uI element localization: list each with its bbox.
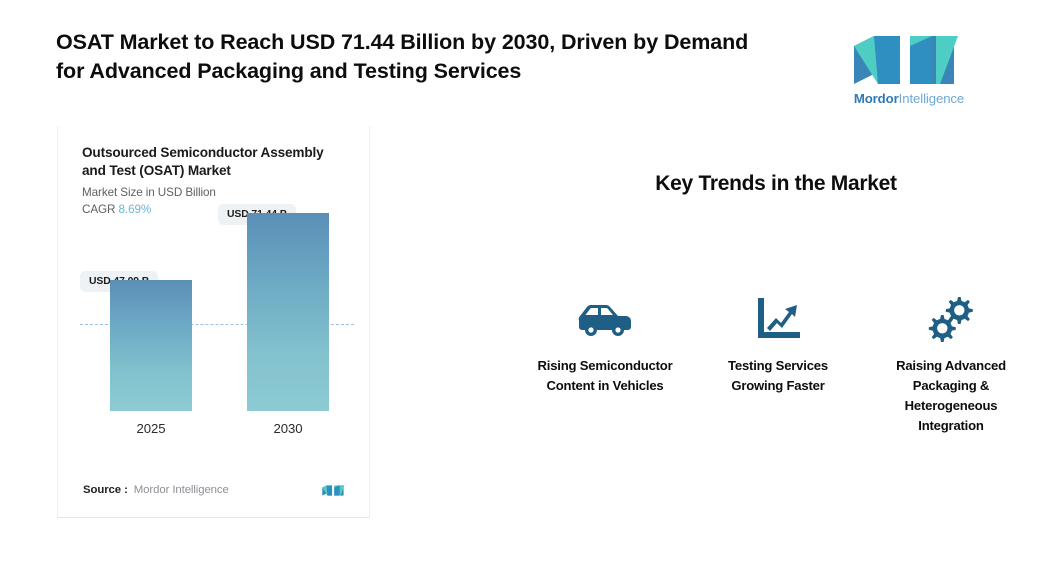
chart-plot-area: USD 47.09 B USD 71.44 B 2025 2030 xyxy=(58,224,369,474)
trend-label-packaging: Raising Advanced Packaging & Heterogeneo… xyxy=(876,356,1026,436)
car-icon-glyph xyxy=(574,299,636,339)
page-title: OSAT Market to Reach USD 71.44 Billion b… xyxy=(56,28,776,87)
source-value: Mordor Intelligence xyxy=(134,484,229,496)
cagr-label: CAGR xyxy=(82,203,115,216)
gears-icon-glyph xyxy=(925,295,977,343)
source-logo-mark-icon xyxy=(321,482,347,499)
trend-label-testing: Testing Services Growing Faster xyxy=(703,356,853,396)
infographic-page: OSAT Market to Reach USD 71.44 Billion b… xyxy=(0,0,1052,567)
gears-icon xyxy=(925,292,977,346)
car-icon xyxy=(574,292,636,346)
bar-2030 xyxy=(247,213,329,411)
bar-column-2030: 2030 xyxy=(247,213,329,436)
chart-card: Outsourced Semiconductor Assembly and Te… xyxy=(57,126,370,518)
growth-chart-icon-glyph xyxy=(754,296,802,342)
logo-mark-icon xyxy=(848,32,970,88)
mordor-intelligence-logo: MordorIntelligence xyxy=(848,32,970,110)
trend-label-vehicles: Rising Semiconductor Content in Vehicles xyxy=(530,356,680,396)
source-label: Source : xyxy=(83,484,128,496)
chart-subtitle: Market Size in USD Billion xyxy=(82,186,349,199)
growth-chart-icon xyxy=(754,292,802,346)
chart-header: Outsourced Semiconductor Assembly and Te… xyxy=(58,126,369,216)
trend-item-packaging: Raising Advanced Packaging & Heterogeneo… xyxy=(876,292,1026,436)
trends-title: Key Trends in the Market xyxy=(546,172,1006,196)
bar-label-2025: 2025 xyxy=(137,421,166,436)
chart-source-row: Source : Mordor Intelligence xyxy=(58,479,369,501)
trend-item-testing: Testing Services Growing Faster xyxy=(703,292,853,396)
logo-word-intelligence: Intelligence xyxy=(899,91,965,106)
chart-title: Outsourced Semiconductor Assembly and Te… xyxy=(82,144,349,180)
bar-label-2030: 2030 xyxy=(274,421,303,436)
trend-item-vehicles: Rising Semiconductor Content in Vehicles xyxy=(530,292,680,396)
bar-column-2025: 2025 xyxy=(110,280,192,436)
trends-row: Rising Semiconductor Content in Vehicles… xyxy=(530,292,1026,436)
logo-wordmark: MordorIntelligence xyxy=(848,91,970,106)
cagr-value: 8.69% xyxy=(119,203,152,216)
logo-word-mordor: Mordor xyxy=(854,91,899,106)
bar-2025 xyxy=(110,280,192,411)
